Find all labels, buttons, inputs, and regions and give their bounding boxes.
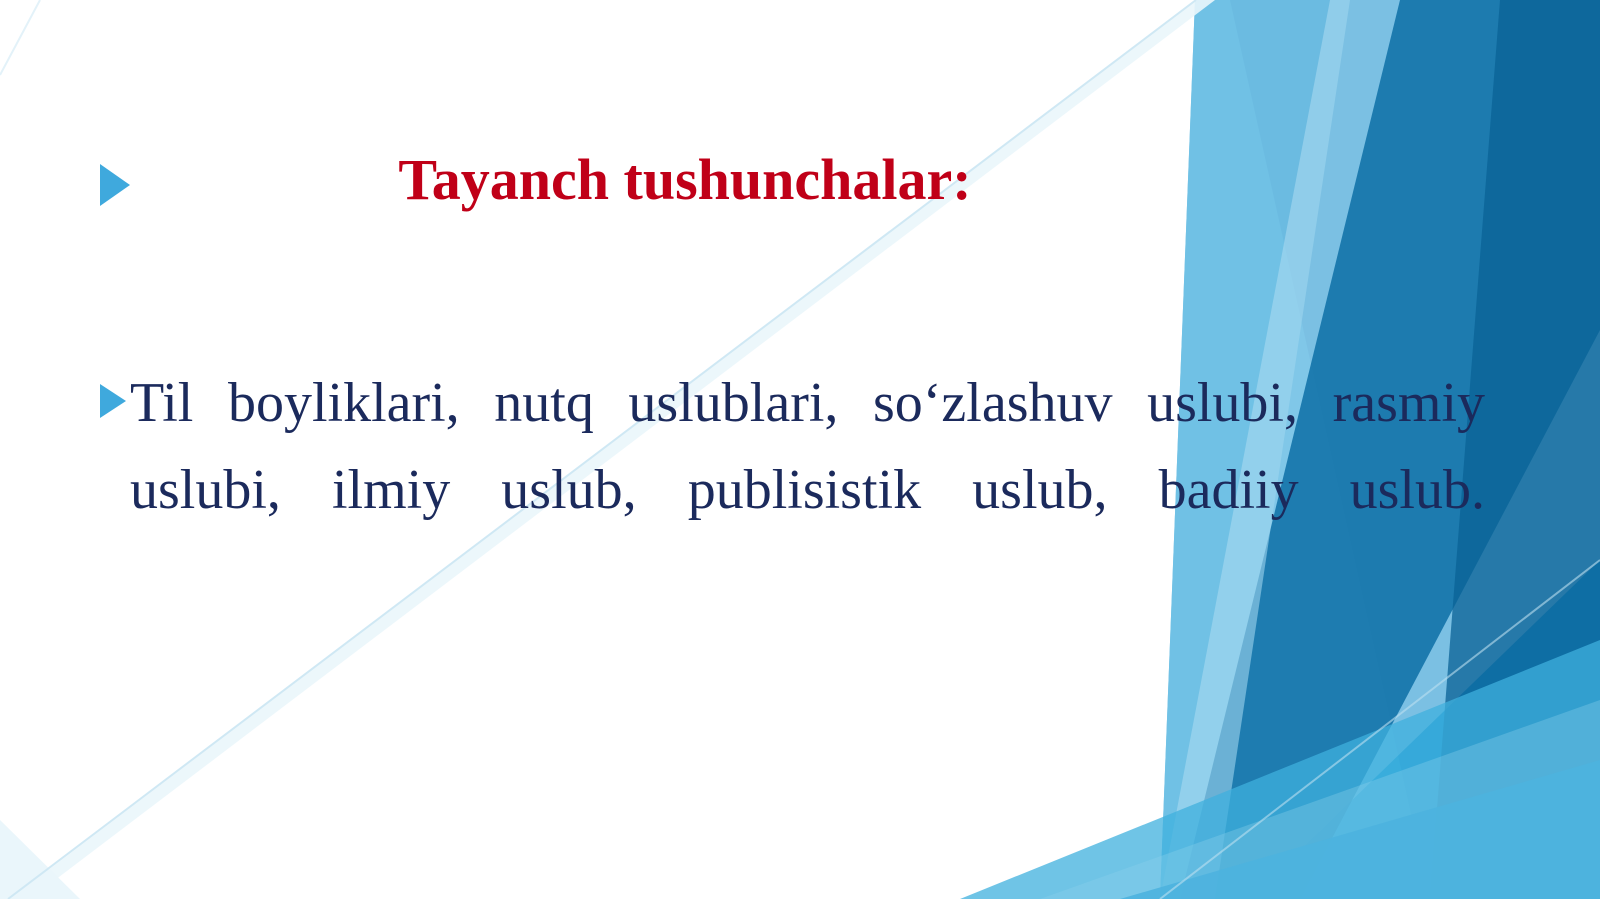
slide-content: Tayanch tushunchalar: Til boyliklari, nu… [0,0,1600,899]
slide-body-row: Til boyliklari, nutq uslublari, so‘zlash… [100,360,1485,620]
slide-title-row: Tayanch tushunchalar: [100,150,1220,211]
triangle-bullet-icon [100,384,126,418]
slide-body-text: Til boyliklari, nutq uslublari, so‘zlash… [126,360,1485,620]
slide-title: Tayanch tushunchalar: [130,150,1220,211]
presentation-slide: Tayanch tushunchalar: Til boyliklari, nu… [0,0,1600,899]
triangle-bullet-icon [100,164,130,206]
